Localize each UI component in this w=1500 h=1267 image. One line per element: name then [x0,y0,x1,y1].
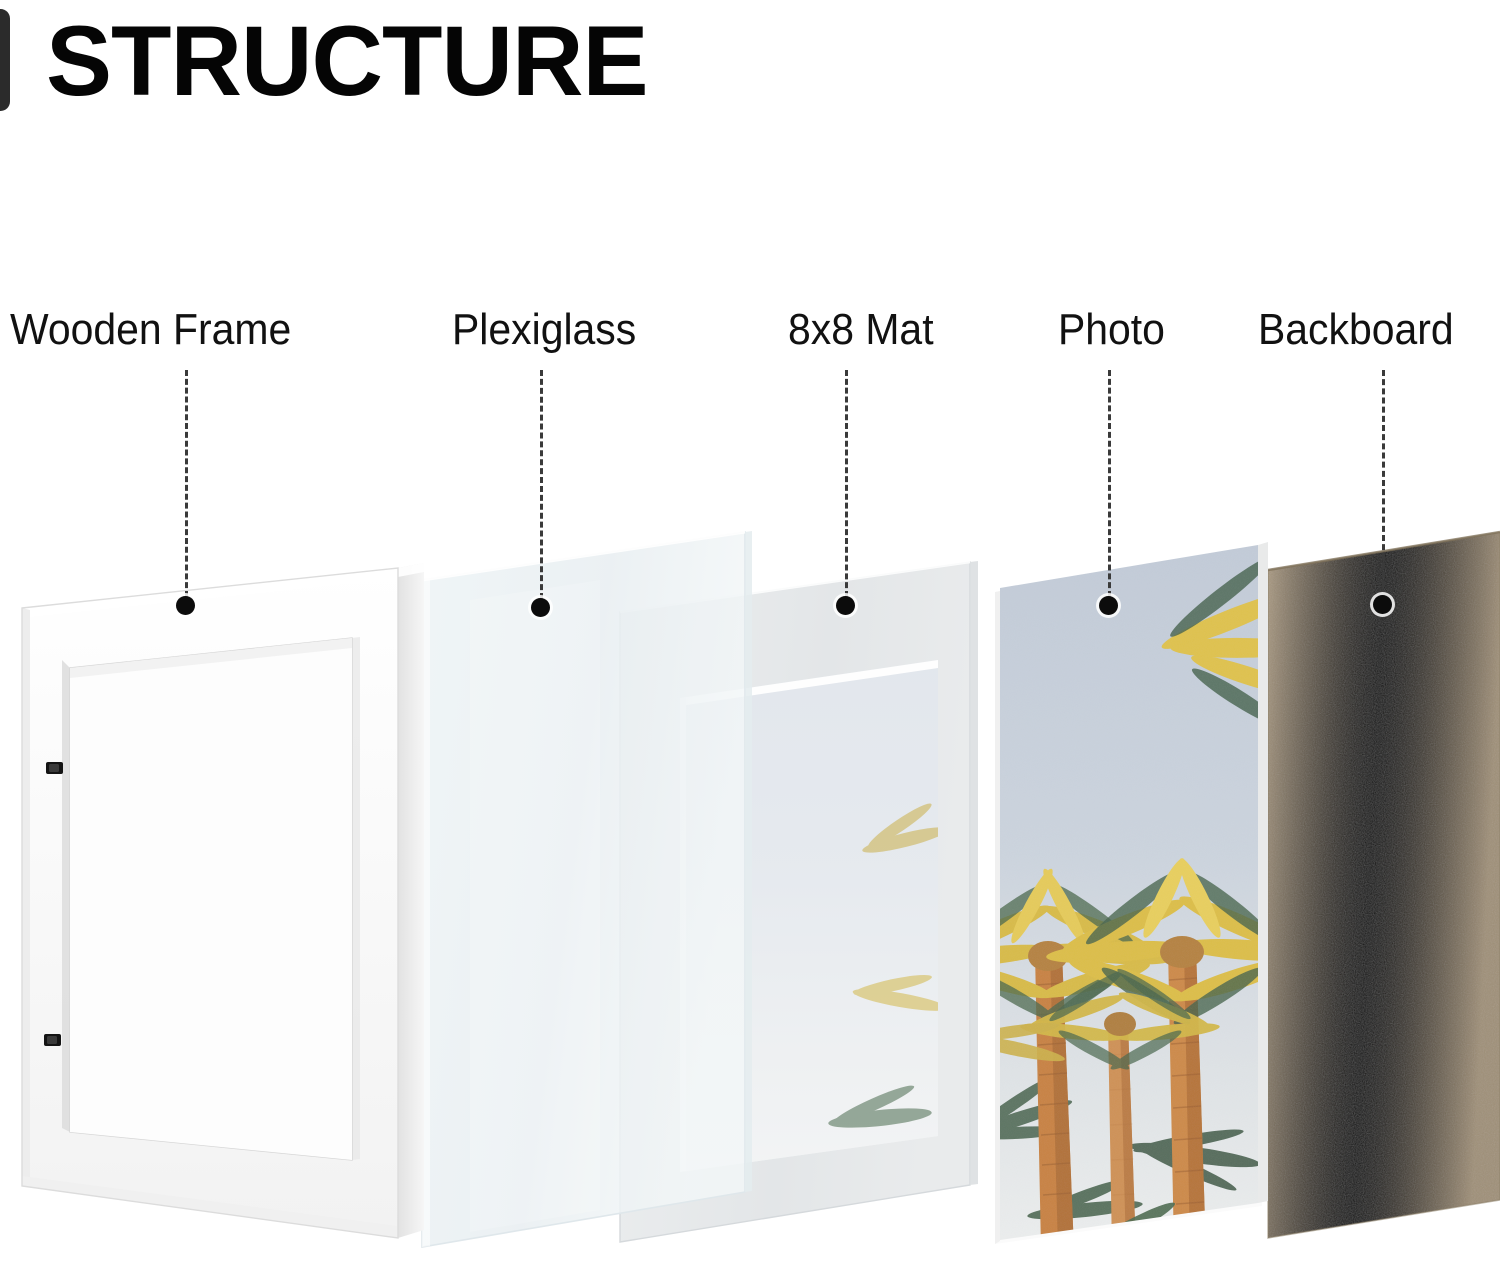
callout-label-wooden-frame: Wooden Frame [10,305,291,355]
exploded-view-diagram [0,0,1500,1267]
layer-wooden-frame [22,563,424,1238]
leader-line-photo [1108,370,1111,597]
layer-backboard [1268,532,1500,1238]
frame-assembly-illustration [0,0,1500,1267]
layer-plexiglass [422,531,752,1247]
leader-dot-photo [1099,596,1118,615]
leader-line-mat [845,370,848,597]
callout-label-mat: 8x8 Mat [788,305,934,355]
leader-dot-backboard [1373,595,1392,614]
leader-dot-mat [836,596,855,615]
callout-label-plexiglass: Plexiglass [452,305,636,355]
leader-line-plexiglass [540,370,543,599]
leader-line-backboard [1382,370,1385,596]
callout-label-photo: Photo [1058,305,1165,355]
leader-dot-wooden-frame [176,596,195,615]
callout-label-backboard: Backboard [1258,305,1454,355]
layer-photo [919,530,1316,1259]
leader-line-wooden-frame [185,370,188,597]
leader-dot-plexiglass [531,598,550,617]
